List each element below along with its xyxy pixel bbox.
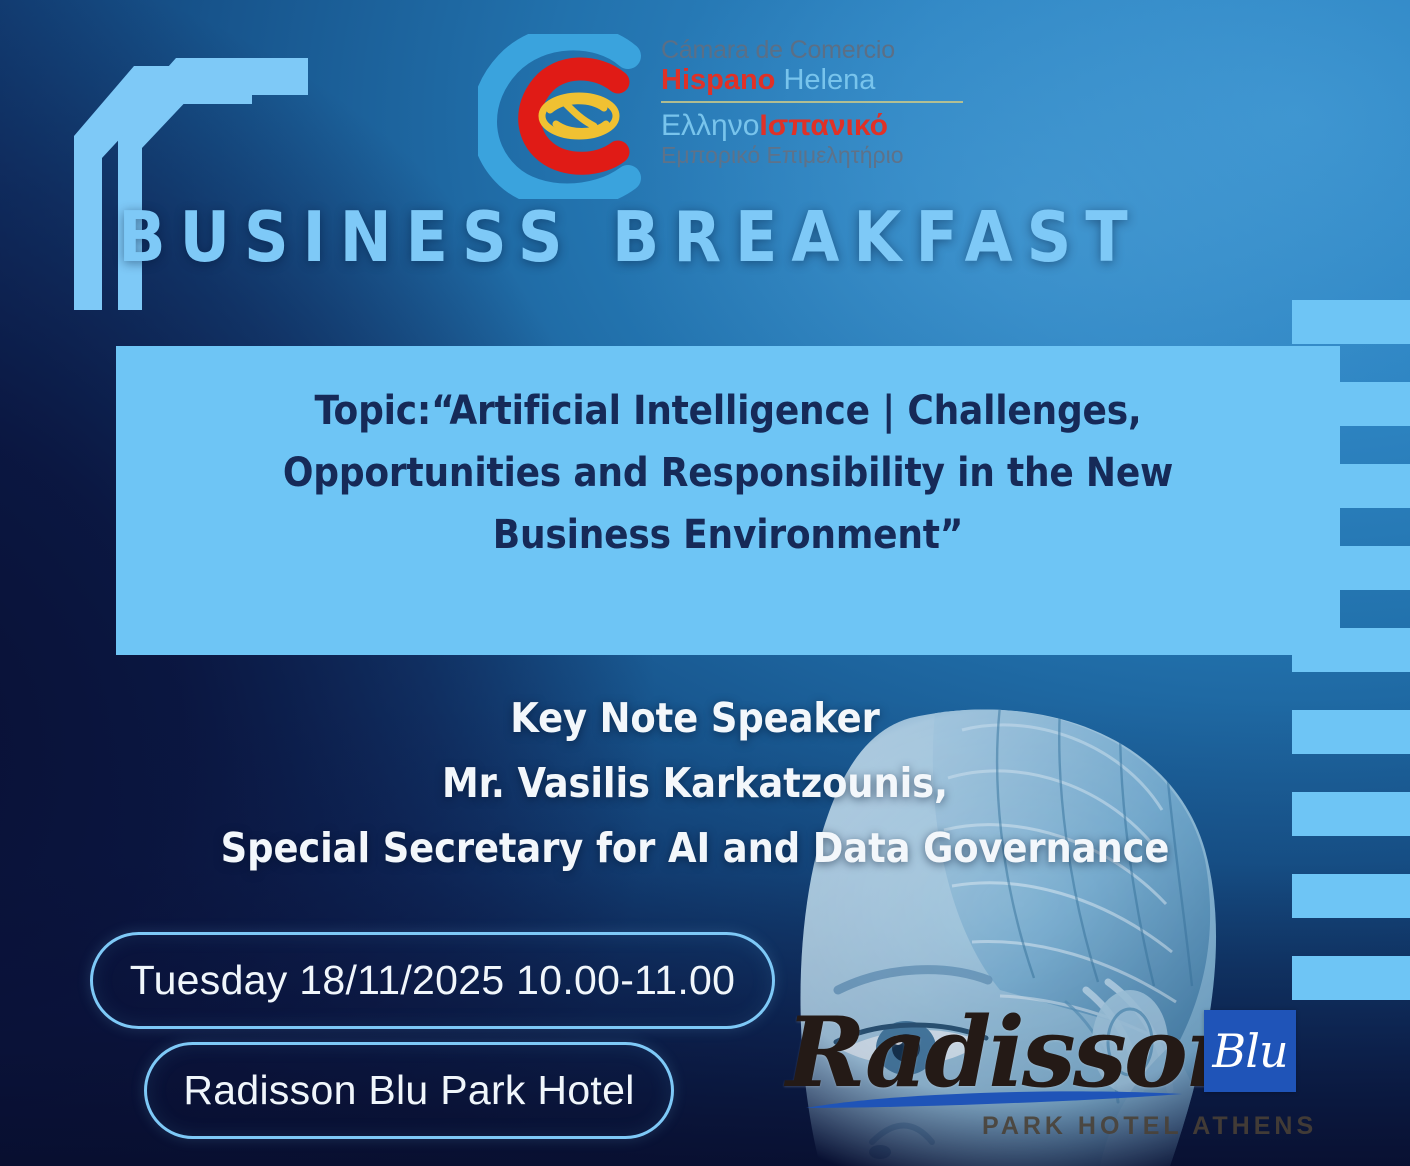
logo-ispaniko-word: Ισπανικό — [759, 109, 888, 142]
logo-divider-rule — [661, 101, 963, 103]
speaker-heading: Key Note Speaker — [0, 686, 1390, 751]
logo-hispano-word: Hispano — [661, 64, 775, 96]
topic-line-1: Topic:“Artificial Intelligence | Challen… — [172, 380, 1284, 442]
radisson-subtitle: PARK HOTEL ATHENS — [982, 1112, 1317, 1141]
topic-line-3: Business Environment” — [172, 504, 1284, 566]
logo-greek-line1: ΕλληνοΙσπανικό — [661, 109, 971, 143]
topic-line-2: Opportunities and Responsibility in the … — [172, 442, 1284, 504]
radisson-swoosh-icon — [804, 1088, 1184, 1110]
logo-greek-line2: Εμπορικό Επιμελητήριο — [661, 143, 971, 169]
chamber-logo: Cámara de Comercio Hispano Helena Ελληνο… — [478, 34, 978, 204]
chamber-logo-mark-icon — [478, 34, 648, 199]
logo-helena-word: Helena — [775, 64, 875, 96]
speaker-name: Mr. Vasilis Karkatzounis, — [0, 751, 1390, 816]
radisson-blu-logo: Radisson Blu PARK HOTEL ATHENS — [786, 996, 1306, 1146]
chamber-logo-text: Cámara de Comercio Hispano Helena Ελληνο… — [661, 36, 971, 169]
event-datetime-label: Tuesday 18/11/2025 10.00-11.00 — [130, 957, 735, 1004]
speaker-block: Key Note Speaker Mr. Vasilis Karkatzouni… — [0, 686, 1390, 880]
topic-box: Topic:“Artificial Intelligence | Challen… — [116, 346, 1340, 655]
logo-spanish-line1: Cámara de Comercio — [661, 36, 971, 64]
stripe — [1292, 300, 1410, 344]
speaker-title: Special Secretary for AI and Data Govern… — [0, 816, 1390, 881]
event-venue-pill[interactable]: Radisson Blu Park Hotel — [144, 1042, 674, 1139]
event-datetime-pill[interactable]: Tuesday 18/11/2025 10.00-11.00 — [90, 932, 775, 1029]
logo-ellino-word: Ελληνο — [661, 109, 759, 142]
blu-badge: Blu — [1204, 1010, 1296, 1092]
event-venue-label: Radisson Blu Park Hotel — [183, 1067, 634, 1114]
event-poster: Cámara de Comercio Hispano Helena Ελληνο… — [0, 0, 1410, 1166]
logo-spanish-line2: Hispano Helena — [661, 64, 971, 96]
event-title: BUSINESS BREAKFAST — [0, 196, 1260, 278]
